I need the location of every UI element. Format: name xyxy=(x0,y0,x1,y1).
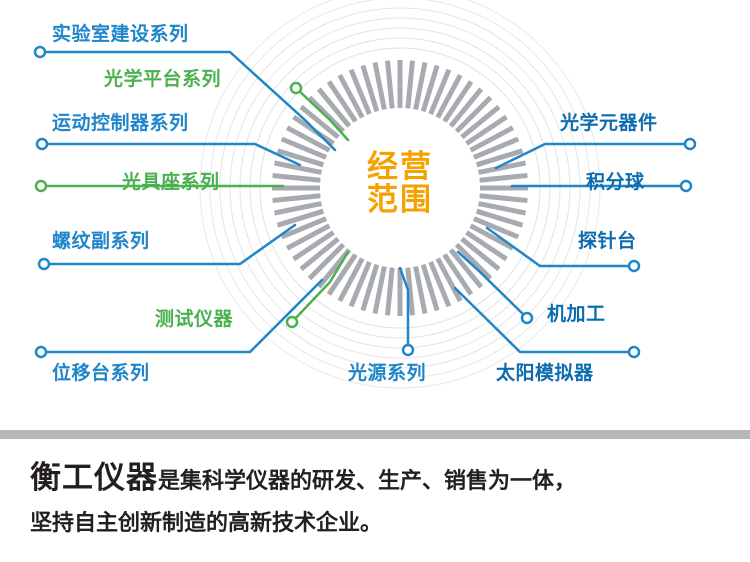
node-label[interactable]: 光学元器件 xyxy=(560,114,658,133)
dot-translation-stage xyxy=(36,347,46,357)
dot-motion-controller xyxy=(37,139,47,149)
dot-solar-simulator xyxy=(629,347,639,357)
dot-thread-pair xyxy=(39,259,49,269)
node-label[interactable]: 螺纹副系列 xyxy=(52,232,150,251)
node-label[interactable]: 位移台系列 xyxy=(52,364,150,383)
center-title-line2: 范围 xyxy=(340,183,460,216)
dot-test-instrument xyxy=(287,317,297,327)
company-caption-text: 衡工仪器是集科学仪器的研发、生产、销售为一体， 坚持自主创新制造的高新技术企业。 xyxy=(30,454,730,540)
center-title-line1: 经营 xyxy=(340,150,460,183)
dot-optical-component xyxy=(685,139,695,149)
node-label[interactable]: 运动控制器系列 xyxy=(52,114,189,133)
infographic-root: 经营 范围 实验室建设系列光学平台系列运动控制器系列光具座系列螺纹副系列测试仪器… xyxy=(0,0,750,562)
dot-machining xyxy=(522,313,532,323)
node-label[interactable]: 光源系列 xyxy=(348,364,426,383)
dot-lab-construction xyxy=(35,47,45,57)
dot-integrating-sphere xyxy=(681,181,691,191)
node-label[interactable]: 机加工 xyxy=(547,305,606,324)
band-divider xyxy=(0,430,750,439)
node-label[interactable]: 光具座系列 xyxy=(122,173,220,192)
business-scope-diagram: 经营 范围 实验室建设系列光学平台系列运动控制器系列光具座系列螺纹副系列测试仪器… xyxy=(0,0,750,430)
dot-optical-mount xyxy=(36,181,46,191)
company-brand-name: 衡工仪器 xyxy=(30,460,158,495)
dot-light-source xyxy=(403,345,413,355)
company-caption-band: 衡工仪器是集科学仪器的研发、生产、销售为一体， 坚持自主创新制造的高新技术企业。 xyxy=(0,430,750,562)
node-label[interactable]: 光学平台系列 xyxy=(104,70,221,89)
dot-optical-table xyxy=(291,83,301,93)
company-caption-line1: 是集科学仪器的研发、生产、销售为一体， xyxy=(158,468,576,493)
dot-probe-station xyxy=(629,261,639,271)
center-title: 经营 范围 xyxy=(340,150,460,217)
node-label[interactable]: 实验室建设系列 xyxy=(52,25,189,44)
node-label[interactable]: 探针台 xyxy=(578,232,637,251)
node-label[interactable]: 测试仪器 xyxy=(155,310,233,329)
node-label[interactable]: 太阳模拟器 xyxy=(496,364,594,383)
node-label[interactable]: 积分球 xyxy=(586,173,645,192)
company-caption-line2: 坚持自主创新制造的高新技术企业。 xyxy=(30,506,730,540)
